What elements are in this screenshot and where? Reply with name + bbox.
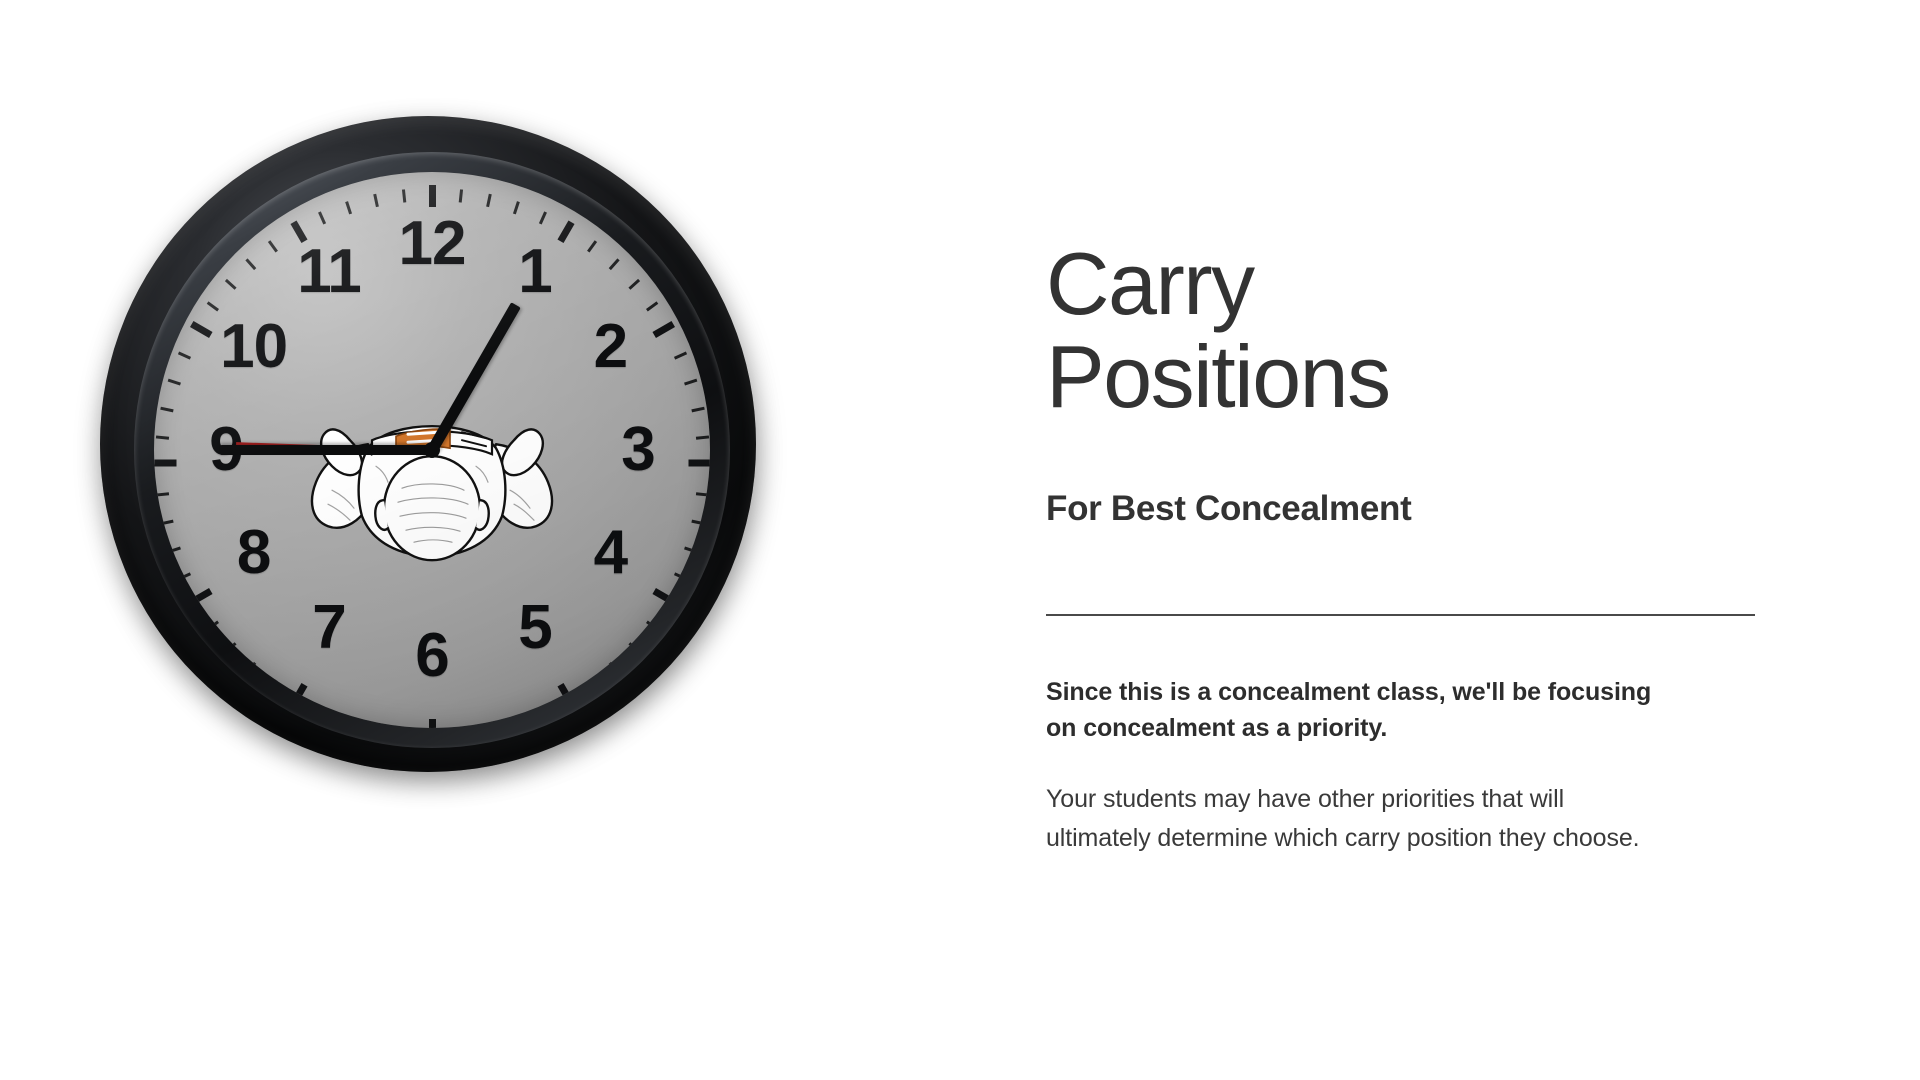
horizontal-divider bbox=[1046, 614, 1755, 616]
page-subtitle: For Best Concealment bbox=[1046, 488, 1766, 530]
clock-hands bbox=[154, 172, 710, 728]
clock-face: 121234567891011 bbox=[154, 172, 710, 728]
slide-carry-positions: 121234567891011 bbox=[0, 0, 1920, 1080]
body-text-regular: Your students may have other priorities … bbox=[1046, 780, 1666, 858]
hour-hand bbox=[427, 302, 521, 453]
hand-center-cap bbox=[424, 442, 440, 458]
body-text-bold: Since this is a concealment class, we'll… bbox=[1046, 675, 1686, 746]
clock-bezel: 121234567891011 bbox=[100, 116, 756, 772]
clock-image: 121234567891011 bbox=[96, 108, 768, 780]
content-column: Carry Positions For Best Concealment Sin… bbox=[1046, 0, 1766, 1080]
page-title: Carry Positions bbox=[1046, 237, 1766, 424]
minute-hand bbox=[220, 445, 432, 455]
